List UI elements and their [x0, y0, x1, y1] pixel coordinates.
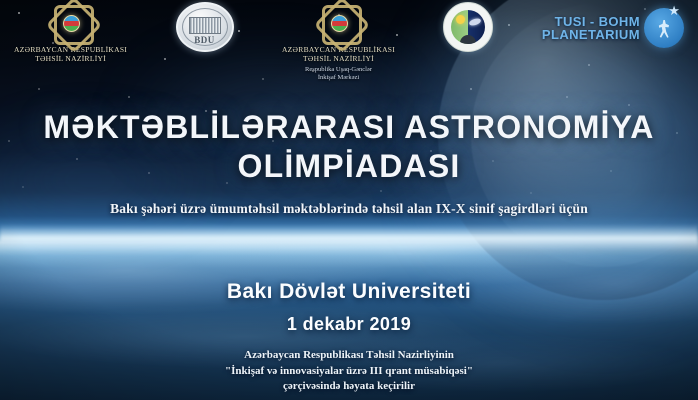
- footnote-line-3: çərçivəsində həyata keçirilir: [0, 379, 698, 395]
- page-title: MƏKTƏBLİLƏRARASI ASTRONOMİYA OLİMPİADASI: [0, 108, 698, 186]
- astronomy-olympiad-poster: AZƏRBAYCAN RESPUBLİKASI TƏHSİL NAZİRLİYİ…: [0, 0, 698, 400]
- footnote-line-1: Azərbaycan Respublikası Təhsil Nazirliyi…: [0, 348, 698, 364]
- venue-name: Bakı Dövlət Universiteti: [0, 280, 698, 304]
- footnote-line-2: "İnkişaf və innovasiyalar üzrə III qrant…: [0, 364, 698, 380]
- poster-content: MƏKTƏBLİLƏRARASI ASTRONOMİYA OLİMPİADASI…: [0, 0, 698, 400]
- event-date: 1 dekabr 2019: [0, 314, 698, 335]
- eligibility-subtitle: Bakı şəhəri üzrə ümumtəhsil məktəblərind…: [0, 201, 698, 217]
- grant-footnote: Azərbaycan Respublikası Təhsil Nazirliyi…: [0, 348, 698, 395]
